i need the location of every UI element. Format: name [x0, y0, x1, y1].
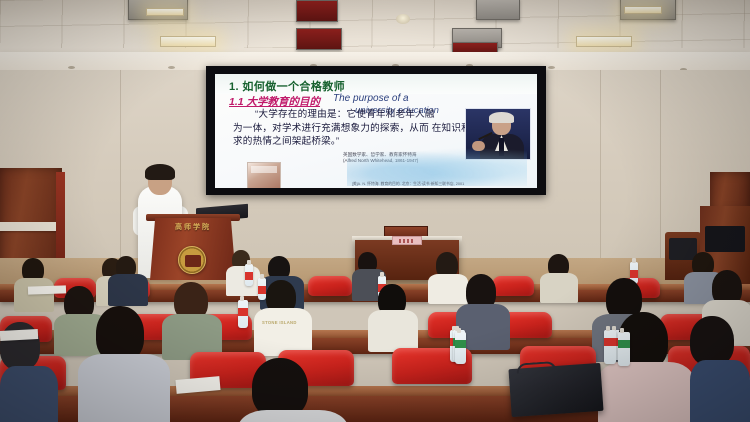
water-bottle-icon	[618, 332, 630, 366]
portrait-hair	[489, 112, 514, 123]
wall-seam	[120, 70, 121, 270]
slide-watermark-graphic	[347, 146, 527, 186]
air-vent-icon	[296, 28, 342, 50]
air-vent-icon	[476, 0, 520, 20]
ceiling-light-icon	[146, 8, 184, 16]
water-bottle-icon	[455, 332, 466, 364]
water-bottle-icon	[245, 264, 253, 286]
person-head	[252, 358, 308, 418]
briefcase-icon	[508, 363, 603, 417]
person-body	[78, 354, 170, 422]
projection-screen-icon: 1. 如何做一个合格教师 1.1 大学教育的目的 The purpose of …	[206, 66, 546, 195]
slide-subtitle-en-line1: The purpose of a	[333, 93, 409, 104]
school-crest-icon	[178, 246, 206, 274]
wall-seam	[660, 70, 661, 270]
seat	[308, 276, 352, 296]
person-body	[0, 366, 58, 422]
notebook-page	[0, 329, 38, 341]
water-bottle-icon	[238, 300, 248, 328]
person-body	[368, 310, 418, 352]
smoke-detector-icon	[168, 66, 175, 69]
slide-quote-line-2: 为一体，对学术进行充满想象力的探索，从而	[233, 123, 429, 134]
person-head	[690, 316, 734, 366]
person-body	[226, 266, 260, 296]
water-bottle-icon	[604, 330, 616, 364]
smoke-detector-icon	[548, 66, 555, 69]
book-cover-image	[247, 162, 281, 188]
shirt-logo: STONE ISLAND	[262, 320, 297, 325]
podium-emblem-text: 高师学院	[160, 222, 226, 232]
slide-quote: “大学存在的理由是：它使青年和老年人融 为一体，对学术进行充满想象力的探索，从而…	[233, 108, 485, 149]
person-body	[540, 273, 578, 303]
notebook-page	[28, 285, 66, 294]
ceiling-light-icon	[624, 6, 662, 14]
wall-trim-strip	[0, 222, 62, 231]
smoke-detector-icon	[68, 66, 75, 69]
person-body	[690, 360, 750, 422]
speaker-hair	[145, 164, 175, 180]
person-body	[108, 274, 148, 306]
slide-quote-line-1: “大学存在的理由是：它使青年和老年人融	[233, 108, 485, 122]
person-body	[14, 278, 54, 312]
air-vent-icon	[296, 0, 338, 22]
slide-subtitle-cn: 1.1 大学教育的目的	[229, 94, 320, 109]
water-bottle-icon	[258, 278, 266, 300]
presentation-slide: 1. 如何做一个合格教师 1.1 大学教育的目的 The purpose of …	[215, 74, 537, 188]
person-body	[238, 410, 348, 422]
ceiling-light-icon	[576, 36, 632, 47]
person-body	[254, 308, 312, 356]
seat	[492, 276, 534, 296]
lecture-hall-photo: 1. 如何做一个合格教师 1.1 大学教育的目的 The purpose of …	[0, 0, 750, 422]
ceiling-light-icon	[160, 36, 216, 47]
ceiling-light-icon	[396, 14, 410, 24]
slide-footnote: [美]A. N. 怀特海. 教育的目的. 北京：生活·读书·新知三联书店, 20…	[293, 182, 523, 187]
nameplate	[392, 236, 422, 245]
wall-seam	[600, 70, 601, 270]
person-body	[428, 274, 468, 304]
person-body	[598, 362, 694, 422]
slide-title: 1. 如何做一个合格教师	[229, 78, 345, 94]
